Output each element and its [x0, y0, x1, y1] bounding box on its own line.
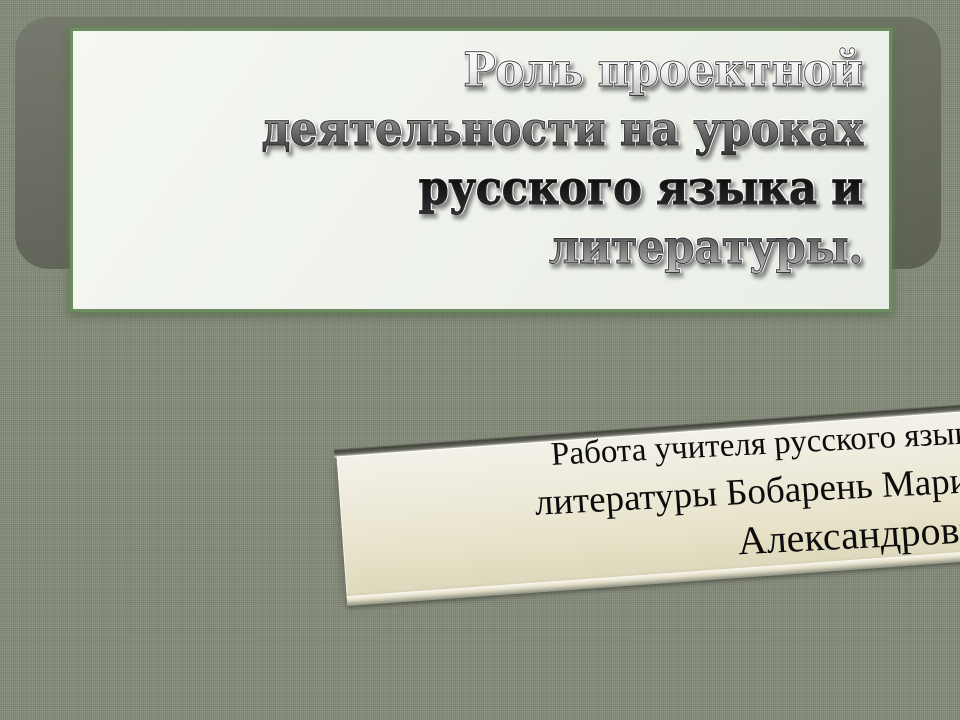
subtitle-panel: Работа учителя русского языка и литерату…: [337, 407, 960, 598]
subtitle-block: Работа учителя русского языка и литерату…: [308, 348, 960, 667]
title-panel: Роль проектной деятельности на уроках ру…: [70, 28, 892, 312]
title-block: Роль проектной деятельности на уроках ру…: [0, 0, 960, 340]
presentation-slide: Роль проектной деятельности на уроках ру…: [0, 0, 960, 720]
page-title: Роль проектной деятельности на уроках ру…: [173, 41, 863, 277]
subtitle-text: Работа учителя русского языка и литерату…: [369, 407, 960, 584]
